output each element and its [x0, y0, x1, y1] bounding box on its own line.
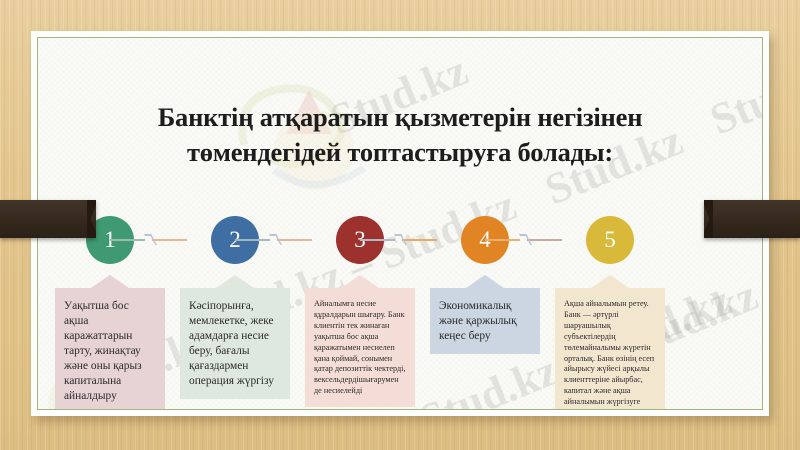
connector-segment-right: [152, 239, 187, 241]
timeline: 12345: [38, 216, 762, 264]
step-card-text: Экономикалық және қаржылық кеңес беру: [439, 299, 531, 344]
timeline-connector: [485, 239, 562, 241]
right-banner-tab: [704, 200, 800, 238]
step-card-1[interactable]: Уақытша бос ақша каражаттарын тарту, жин…: [55, 288, 165, 410]
watermark-text: Stud.kz: [703, 44, 762, 145]
timeline-connector: [235, 239, 312, 241]
card-pointer-triangle: [216, 275, 254, 288]
connector-segment-left: [110, 239, 145, 241]
connector-segment-right: [277, 239, 312, 241]
step-card-3[interactable]: Айналымға несие құралдарын шығару. Банк …: [305, 288, 415, 407]
card-pointer-triangle: [591, 275, 629, 288]
step-card-5[interactable]: Ақша айналымын ретеу. Банк — әртүрлі шар…: [555, 288, 665, 410]
timeline-node-number: 5: [604, 227, 616, 253]
slide-title-line-2: төмендегідей топтастыруға болады:: [98, 135, 702, 170]
timeline-node-5[interactable]: 5: [586, 216, 634, 264]
step-card-2[interactable]: Кәсіпорынға, мемлекетке, жеке адамдарға …: [180, 288, 290, 399]
timeline-connector: [110, 239, 187, 241]
right-banner-notch: [704, 200, 713, 238]
card-pointer-triangle: [341, 275, 379, 288]
connector-segment-left: [360, 239, 395, 241]
timeline-connector: [360, 239, 437, 241]
connector-segment-right: [527, 239, 562, 241]
step-card-text: Кәсіпорынға, мемлекетке, жеке адамдарға …: [189, 299, 281, 389]
connector-segment-left: [235, 239, 270, 241]
connector-segment-left: [485, 239, 520, 241]
step-card-4[interactable]: Экономикалық және қаржылық кеңес беру: [430, 288, 540, 354]
connector-segment-right: [402, 239, 437, 241]
card-pointer-triangle: [466, 275, 504, 288]
card-pointer-triangle: [91, 275, 129, 288]
step-card-text: Айналымға несие құралдарын шығару. Банк …: [314, 299, 406, 397]
slide-mat: Stud.kz Stud.kz Stud.kz – Stud.kz Stud.k…: [31, 31, 769, 416]
left-banner-tab: [0, 200, 96, 238]
slide-panel: Stud.kz Stud.kz Stud.kz – Stud.kz Stud.k…: [37, 37, 763, 410]
step-card-text: Ақша айналымын ретеу. Банк — әртүрлі шар…: [564, 299, 656, 410]
step-card-text: Уақытша бос ақша каражаттарын тарту, жин…: [64, 299, 156, 404]
left-banner-notch: [87, 200, 96, 238]
slide-title: Банктің атқаратын қызметерін негізінен т…: [98, 100, 702, 170]
slide-title-line-1: Банктің атқаратын қызметерін негізінен: [158, 102, 643, 132]
